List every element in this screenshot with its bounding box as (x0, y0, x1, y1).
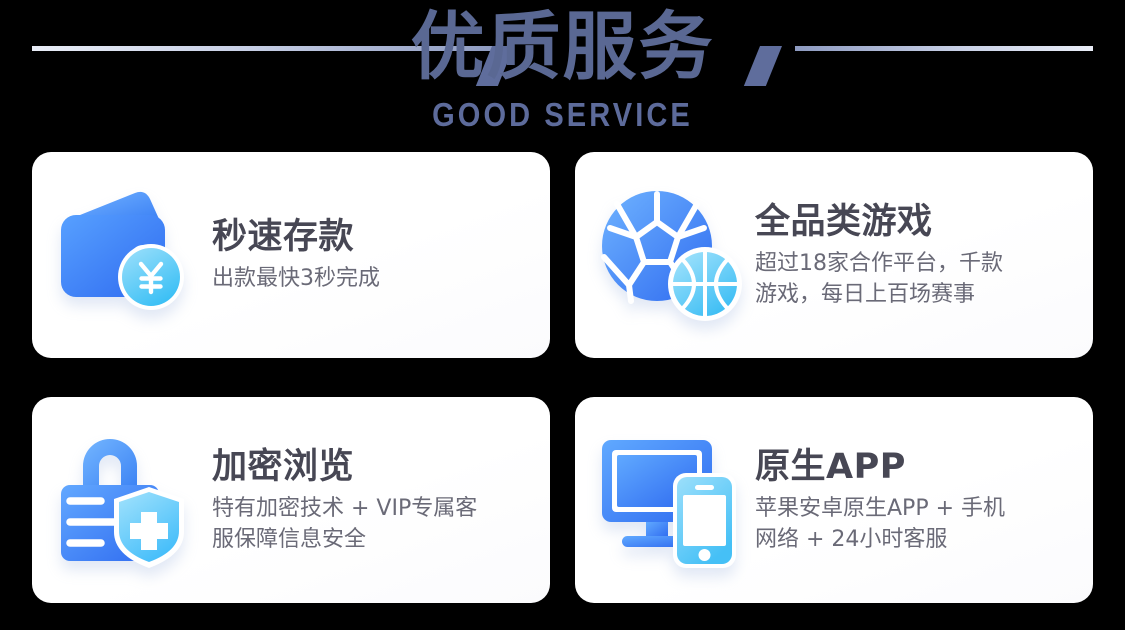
promo-banner: 优质服务 GOOD SERVICE (0, 0, 1125, 630)
feature-subtitle: 苹果安卓原生APP + 手机 网络 + 24小时客服 (755, 493, 1079, 555)
feature-card-text: 秒速存款 出款最快3秒完成 (212, 216, 550, 294)
feature-subtitle-line: 特有加密技术 + VIP专属客 (212, 493, 536, 524)
feature-title: 全品类游戏 (755, 201, 1079, 243)
soccer-ball-icon-svg (595, 184, 747, 326)
feature-card-native-app[interactable]: 原生APP 苹果安卓原生APP + 手机 网络 + 24小时客服 (575, 397, 1093, 603)
soccer-ball-icon (587, 175, 755, 335)
feature-card-deposit[interactable]: 秒速存款 出款最快3秒完成 (32, 152, 550, 358)
header: 优质服务 GOOD SERVICE (0, 0, 1125, 140)
feature-subtitle: 超过18家合作平台，千款 游戏，每日上百场赛事 (755, 248, 1079, 310)
feature-subtitle: 特有加密技术 + VIP专属客 服保障信息安全 (212, 493, 536, 555)
feature-subtitle: 出款最快3秒完成 (212, 263, 536, 294)
feature-title: 原生APP (755, 446, 1079, 488)
feature-card-text: 全品类游戏 超过18家合作平台，千款 游戏，每日上百场赛事 (755, 201, 1093, 310)
feature-card-games[interactable]: 全品类游戏 超过18家合作平台，千款 游戏，每日上百场赛事 (575, 152, 1093, 358)
feature-card-text: 加密浏览 特有加密技术 + VIP专属客 服保障信息安全 (212, 446, 550, 555)
page-subtitle: GOOD SERVICE (68, 96, 1058, 134)
feature-subtitle-line: 出款最快3秒完成 (212, 263, 536, 294)
wallet-icon-svg (53, 185, 203, 325)
lock-shield-icon (44, 420, 212, 580)
monitor-phone-icon (587, 420, 755, 580)
feature-title: 加密浏览 (212, 446, 536, 488)
monitor-phone-icon-svg (596, 432, 746, 568)
feature-card-grid: 秒速存款 出款最快3秒完成 (32, 152, 1093, 588)
lock-shield-icon-svg (53, 428, 203, 573)
feature-title: 秒速存款 (212, 216, 536, 258)
feature-subtitle-line: 服保障信息安全 (212, 524, 536, 555)
wallet-icon (44, 175, 212, 335)
page-title: 优质服务 (0, 4, 1125, 90)
feature-card-encryption[interactable]: 加密浏览 特有加密技术 + VIP专属客 服保障信息安全 (32, 397, 550, 603)
feature-subtitle-line: 游戏，每日上百场赛事 (755, 279, 1079, 310)
feature-subtitle-line: 苹果安卓原生APP + 手机 (755, 493, 1079, 524)
feature-subtitle-line: 超过18家合作平台，千款 (755, 248, 1079, 279)
feature-subtitle-line: 网络 + 24小时客服 (755, 524, 1079, 555)
feature-card-text: 原生APP 苹果安卓原生APP + 手机 网络 + 24小时客服 (755, 446, 1093, 555)
